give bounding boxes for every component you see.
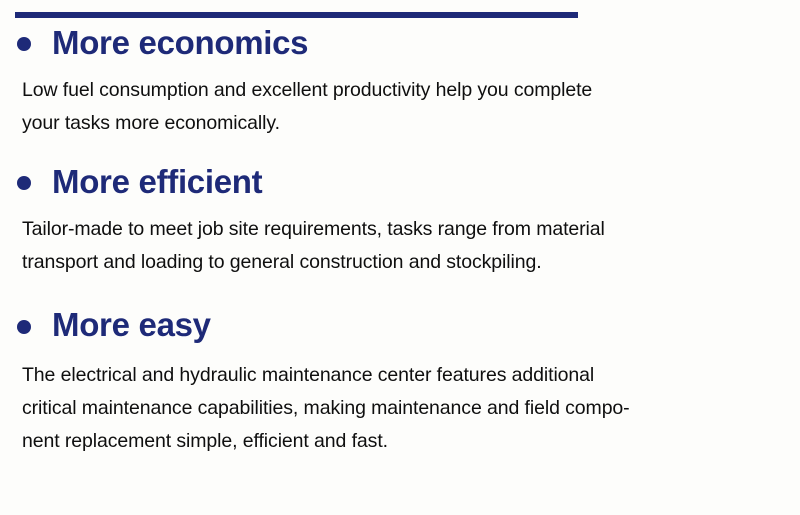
body-line: Low fuel consumption and excellent produ… xyxy=(22,74,782,107)
filled-circle-bullet-icon xyxy=(17,176,31,190)
feature-body-more-economics: Low fuel consumption and excellent produ… xyxy=(0,74,782,140)
body-line: The electrical and hydraulic maintenance… xyxy=(22,359,782,392)
body-line: nent replacement simple, efficient and f… xyxy=(22,425,782,458)
feature-section-more-economics: More economics Low fuel consumption and … xyxy=(0,26,800,140)
feature-body-more-efficient: Tailor-made to meet job site requirement… xyxy=(0,213,782,279)
feature-heading-more-easy: More easy xyxy=(0,308,800,343)
feature-section-more-efficient: More efficient Tailor-made to meet job s… xyxy=(0,165,800,280)
features-list: More economics Low fuel consumption and … xyxy=(0,26,800,458)
feature-heading-label: More economics xyxy=(52,26,308,61)
filled-circle-bullet-icon xyxy=(17,320,31,334)
body-line: your tasks more economically. xyxy=(22,107,782,140)
feature-body-more-easy: The electrical and hydraulic maintenance… xyxy=(0,359,782,458)
feature-section-more-easy: More easy The electrical and hydraulic m… xyxy=(0,308,800,458)
feature-heading-more-economics: More economics xyxy=(0,26,800,61)
feature-heading-more-efficient: More efficient xyxy=(0,165,800,200)
body-line: transport and loading to general constru… xyxy=(22,246,782,279)
top-navy-rule xyxy=(15,12,578,18)
filled-circle-bullet-icon xyxy=(17,37,31,51)
feature-heading-label: More efficient xyxy=(52,165,262,200)
body-line: Tailor-made to meet job site requirement… xyxy=(22,213,782,246)
feature-heading-label: More easy xyxy=(52,308,211,343)
body-line: critical maintenance capabilities, makin… xyxy=(22,392,782,425)
feature-highlights-page: More economics Low fuel consumption and … xyxy=(0,0,800,515)
